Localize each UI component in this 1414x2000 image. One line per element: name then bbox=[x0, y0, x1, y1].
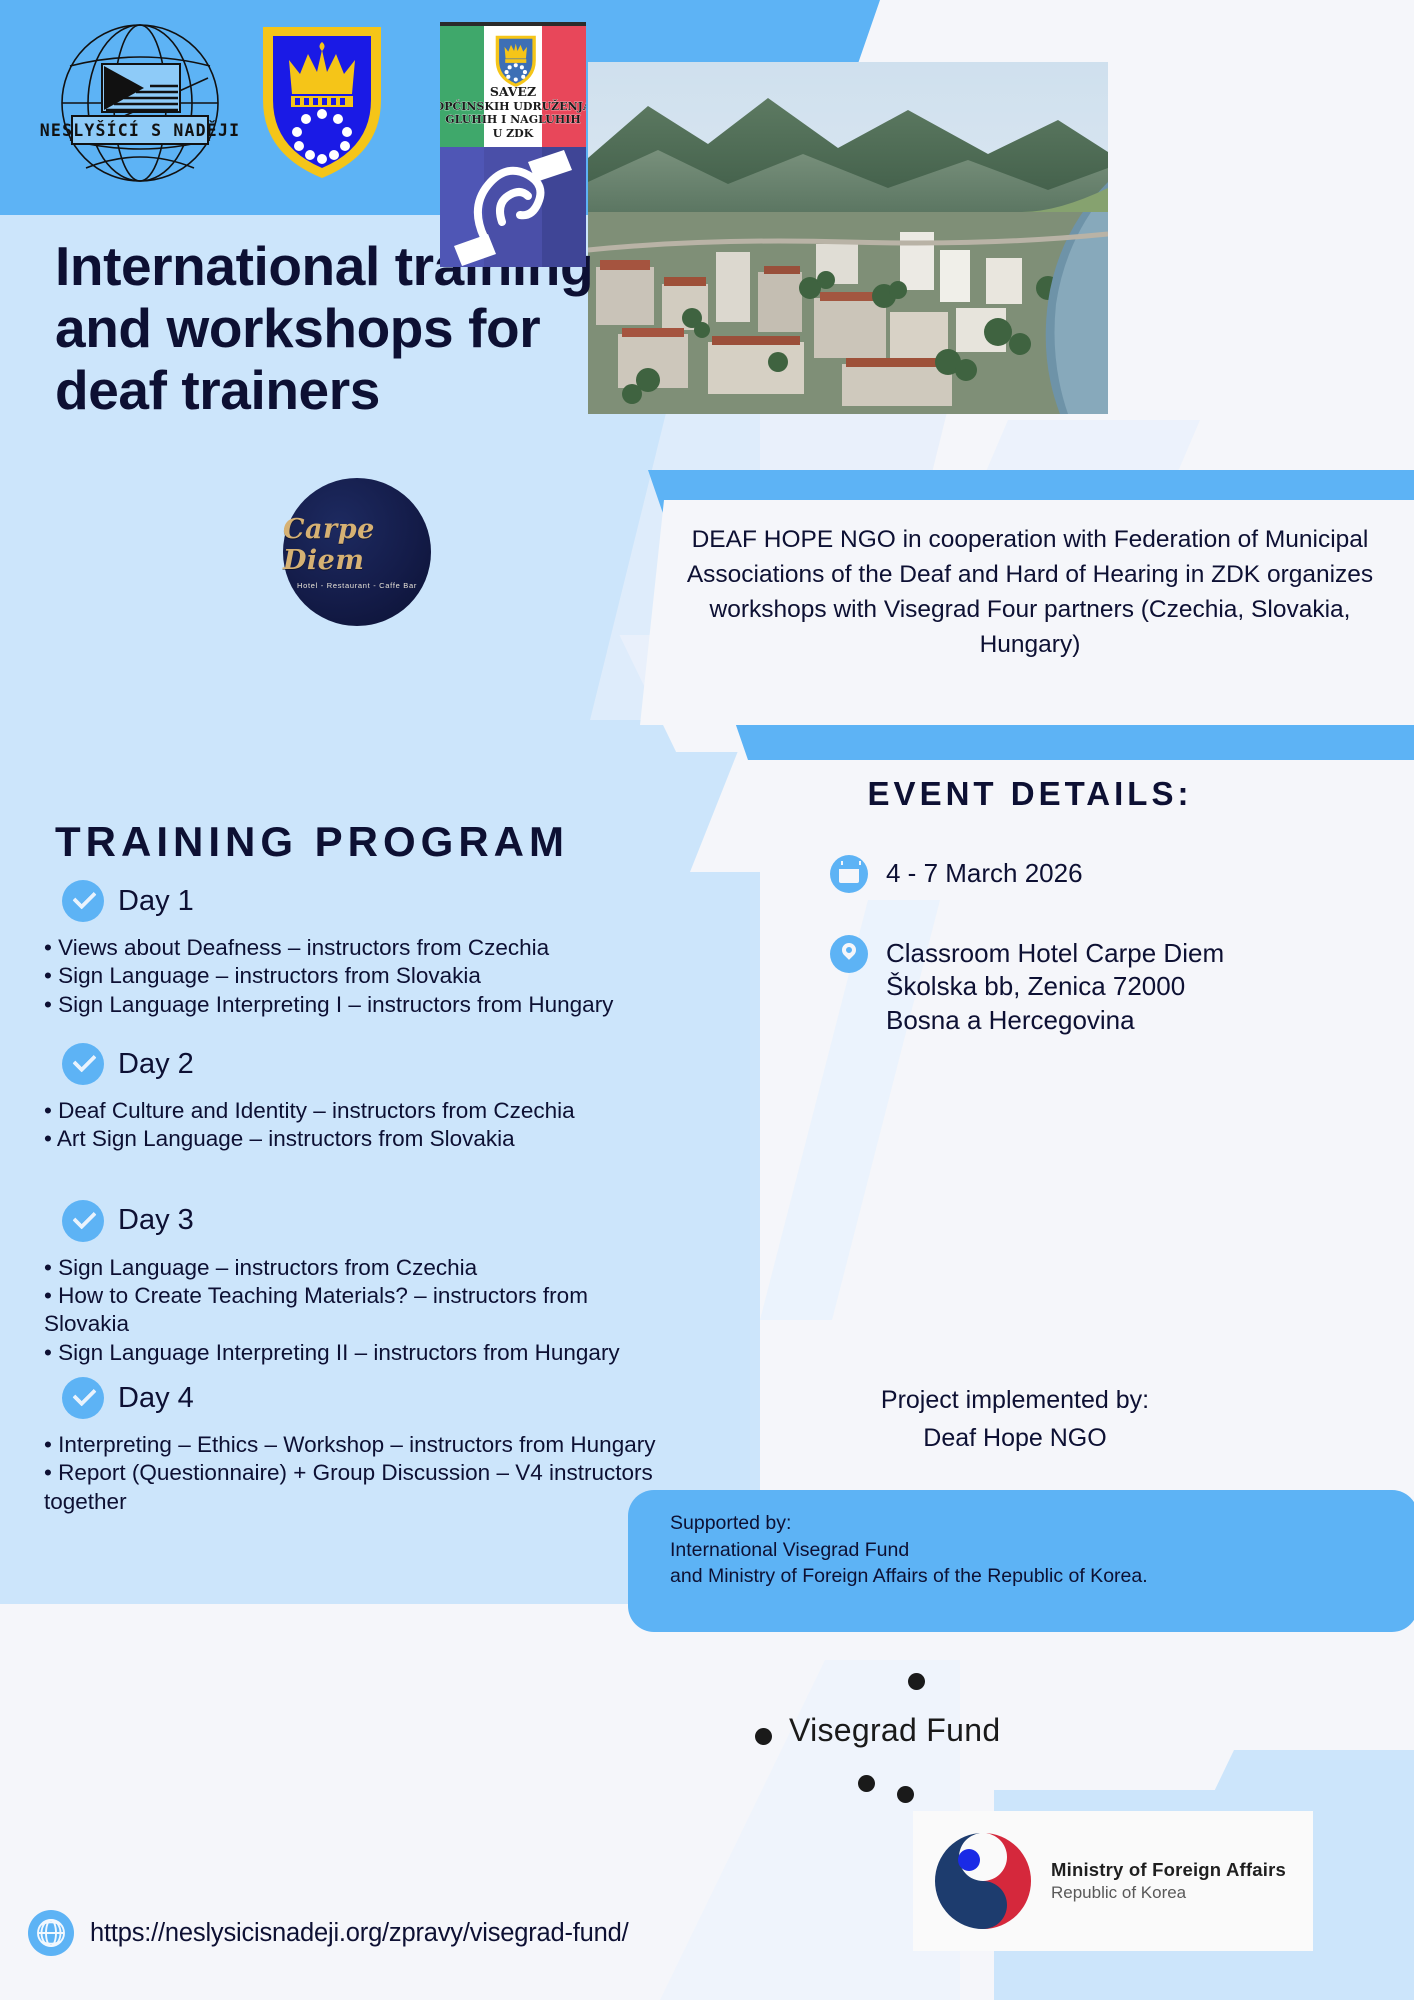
check-circle-icon bbox=[62, 1200, 104, 1242]
carpe-diem-name: Carpe Diem bbox=[283, 514, 431, 576]
program-day-items: • Views about Deafness – instructors fro… bbox=[44, 934, 662, 1019]
visegrad-dot-icon bbox=[897, 1786, 914, 1803]
description-text: DEAF HOPE NGO in cooperation with Federa… bbox=[682, 522, 1378, 662]
list-item: • Deaf Culture and Identity – instructor… bbox=[44, 1097, 662, 1125]
list-item: • Report (Questionnaire) + Group Discuss… bbox=[44, 1459, 662, 1516]
visegrad-fund-label: Visegrad Fund bbox=[789, 1712, 1000, 1749]
training-program-body: Day 1 • Views about Deafness – instructo… bbox=[42, 880, 662, 1516]
program-day-row: Day 4 bbox=[42, 1377, 662, 1419]
list-item: • Art Sign Language – instructors from S… bbox=[44, 1125, 662, 1153]
list-item: • Sign Language – instructors from Czech… bbox=[44, 1254, 662, 1282]
savez-line-2: OPĆINSKIH UDRUŽENJA bbox=[440, 99, 586, 113]
neslysici-s-nadeji-logo-icon: NESLYŠÍCÍ S NADĚJI bbox=[40, 18, 240, 188]
mofa-korea-logo: Ministry of Foreign Affairs Republic of … bbox=[913, 1811, 1313, 1951]
program-day-row: Day 3 bbox=[42, 1200, 662, 1242]
program-day-row: Day 1 bbox=[42, 880, 662, 922]
description-card: DEAF HOPE NGO in cooperation with Federa… bbox=[620, 500, 1414, 725]
program-day-items: • Sign Language – instructors from Czech… bbox=[44, 1254, 662, 1367]
event-date-row: 4 - 7 March 2026 bbox=[830, 855, 1083, 893]
event-details-heading: EVENT DETAILS: bbox=[700, 775, 1360, 813]
mofa-line-2: Republic of Korea bbox=[1051, 1883, 1186, 1902]
zdk-coat-of-arms-icon bbox=[258, 22, 386, 182]
footer-url-bar[interactable]: https://neslysicisnadeji.org/zpravy/vise… bbox=[28, 1893, 728, 1973]
description-callout: DEAF HOPE NGO in cooperation with Federa… bbox=[600, 470, 1414, 775]
map-pin-icon bbox=[830, 935, 868, 973]
bg-left-pale-lower bbox=[0, 630, 600, 760]
check-circle-icon bbox=[62, 1377, 104, 1419]
check-circle-icon bbox=[62, 880, 104, 922]
calendar-icon bbox=[830, 855, 868, 893]
carpe-diem-subtitle: Hotel - Restaurant - Caffe Bar bbox=[297, 581, 417, 590]
event-location-text: Classroom Hotel Carpe Diem Školska bb, Z… bbox=[886, 935, 1224, 1037]
list-item: • Sign Language – instructors from Slova… bbox=[44, 962, 662, 990]
check-circle-icon bbox=[62, 1043, 104, 1085]
list-item: • Interpreting – Ethics – Workshop – ins… bbox=[44, 1431, 662, 1459]
list-item: • Views about Deafness – instructors fro… bbox=[44, 934, 662, 962]
list-item: • Sign Language Interpreting I – instruc… bbox=[44, 991, 662, 1019]
zenica-aerial-photo bbox=[588, 62, 1108, 414]
program-day-row: Day 2 bbox=[42, 1043, 662, 1085]
globe-logo-label: NESLYŠÍCÍ S NADĚJI bbox=[40, 121, 240, 140]
globe-icon bbox=[28, 1910, 74, 1956]
event-location-row: Classroom Hotel Carpe Diem Školska bb, Z… bbox=[830, 935, 1224, 1037]
program-day-label: Day 3 bbox=[118, 1204, 194, 1237]
savez-deaf-association-emblem-icon: SAVEZ OPĆINSKIH UDRUŽENJA GLUHIH I NAGLU… bbox=[440, 22, 586, 267]
footer-url-text[interactable]: https://neslysicisnadeji.org/zpravy/vise… bbox=[90, 1919, 629, 1948]
visegrad-dot-icon bbox=[858, 1775, 875, 1792]
mofa-line-1: Ministry of Foreign Affairs bbox=[1051, 1859, 1286, 1880]
program-day-label: Day 2 bbox=[118, 1048, 194, 1081]
visegrad-dot-icon bbox=[755, 1728, 772, 1745]
program-day-label: Day 1 bbox=[118, 885, 194, 918]
savez-line-3: GLUHIH I NAGLUHIH bbox=[445, 113, 581, 126]
event-date-text: 4 - 7 March 2026 bbox=[886, 855, 1083, 890]
implemented-by-text: Project implemented by: Deaf Hope NGO bbox=[700, 1382, 1330, 1457]
visegrad-fund-logo: Visegrad Fund bbox=[745, 1655, 1075, 1825]
program-day-items: • Interpreting – Ethics – Workshop – ins… bbox=[44, 1431, 662, 1516]
carpe-diem-logo: Carpe Diem Hotel - Restaurant - Caffe Ba… bbox=[283, 478, 431, 626]
savez-line-4: U ZDK bbox=[493, 127, 534, 140]
poster-root: NESLYŠÍCÍ S NADĚJI bbox=[0, 0, 1414, 2000]
program-day-items: • Deaf Culture and Identity – instructor… bbox=[44, 1097, 662, 1154]
supported-by-text: Supported by: International Visegrad Fun… bbox=[670, 1510, 1390, 1590]
taeguk-icon bbox=[931, 1829, 1035, 1933]
visegrad-dot-icon bbox=[908, 1673, 925, 1690]
supported-by-card: Supported by: International Visegrad Fun… bbox=[628, 1490, 1414, 1632]
list-item: • Sign Language Interpreting II – instru… bbox=[44, 1339, 662, 1367]
savez-line-1: SAVEZ bbox=[490, 84, 536, 99]
list-item: • How to Create Teaching Materials? – in… bbox=[44, 1282, 662, 1339]
program-day-label: Day 4 bbox=[118, 1382, 194, 1415]
training-program-heading: TRAINING PROGRAM bbox=[55, 818, 569, 866]
